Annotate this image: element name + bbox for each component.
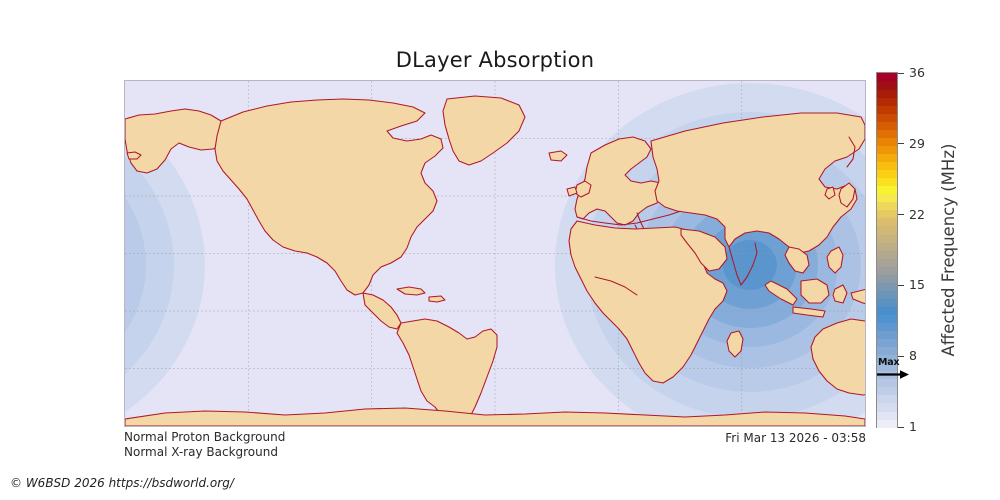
colorbar-segment <box>877 403 897 412</box>
colorbar-segment <box>877 306 897 315</box>
tick-label: 36 <box>909 64 925 81</box>
colorbar-segment <box>877 347 897 356</box>
colorbar-segment <box>877 419 897 428</box>
colorbar-segment <box>877 97 897 106</box>
tick-label: 15 <box>909 276 925 293</box>
credit-label: © W6BSD 2026 https://bsdworld.org/ <box>10 476 234 490</box>
tick-mark <box>898 356 904 357</box>
proton-status-text: Normal Proton Background <box>124 430 544 445</box>
tick-mark <box>898 73 904 74</box>
tick-mark <box>898 285 904 286</box>
land-central-america <box>363 293 401 329</box>
colorbar-segment <box>877 137 897 146</box>
colorbar-segment <box>877 162 897 171</box>
colorbar-segment <box>877 250 897 259</box>
colorbar-segment <box>877 314 897 323</box>
land-alaska <box>125 109 229 173</box>
xray-status-text: Normal X-ray Background <box>124 445 544 460</box>
colorbar-segment <box>877 105 897 114</box>
figure-canvas: DLayer Absorption <box>0 0 1000 500</box>
colorbar-segment <box>877 395 897 404</box>
colorbar-segment <box>877 411 897 420</box>
world-map[interactable] <box>124 80 866 427</box>
map-clip <box>125 81 865 426</box>
page-title: DLayer Absorption <box>0 48 990 72</box>
map-svg <box>125 81 865 426</box>
tick-mark <box>898 427 904 428</box>
colorbar-segment <box>877 234 897 243</box>
colorbar[interactable]: Max <box>876 72 898 428</box>
colorbar-segment <box>877 170 897 179</box>
colorbar-segment <box>877 89 897 98</box>
colorbar-segment <box>877 186 897 195</box>
colorbar-segment <box>877 242 897 251</box>
colorbar-segment <box>877 290 897 299</box>
colorbar-segment <box>877 355 897 364</box>
colorbar-segment <box>877 371 897 380</box>
tick-mark <box>898 143 904 144</box>
timestamp-label: Fri Mar 13 2026 - 03:58 <box>560 431 866 445</box>
land-north-america <box>215 99 443 295</box>
tick-label: 8 <box>909 347 917 364</box>
colorbar-segment <box>877 153 897 162</box>
colorbar-segment <box>877 129 897 138</box>
land-greenland <box>443 96 525 165</box>
tick-label: 22 <box>909 206 925 223</box>
colorbar-segment <box>877 274 897 283</box>
tick-label: 29 <box>909 135 925 152</box>
land-caribbean <box>397 287 425 295</box>
land-iceland <box>549 151 567 161</box>
colorbar-segment <box>877 363 897 372</box>
tick-label: 1 <box>909 418 917 435</box>
colorbar-segment <box>877 121 897 130</box>
colorbar-segment <box>877 298 897 307</box>
colorbar-segment <box>877 218 897 227</box>
colorbar-segment <box>877 258 897 267</box>
colorbar-segment <box>877 226 897 235</box>
status-notes: Normal Proton Background Normal X-ray Ba… <box>124 430 544 459</box>
colorbar-gradient <box>876 72 898 428</box>
colorbar-segment <box>877 387 897 396</box>
colorbar-segment <box>877 145 897 154</box>
colorbar-segment <box>877 178 897 187</box>
colorbar-segment <box>877 339 897 348</box>
colorbar-segment <box>877 379 897 388</box>
land-hispaniola <box>429 296 445 302</box>
colorbar-segment <box>877 202 897 211</box>
colorbar-segment <box>877 266 897 275</box>
colorbar-segment <box>877 210 897 219</box>
colorbar-axis-label: Affected Frequency (MHz) <box>934 72 964 428</box>
colorbar-segment <box>877 322 897 331</box>
colorbar-segment <box>877 330 897 339</box>
tick-mark <box>898 214 904 215</box>
colorbar-segment <box>877 282 897 291</box>
colorbar-segment <box>877 194 897 203</box>
colorbar-segment <box>877 81 897 90</box>
colorbar-segment <box>877 73 897 82</box>
colorbar-segment <box>877 113 897 122</box>
